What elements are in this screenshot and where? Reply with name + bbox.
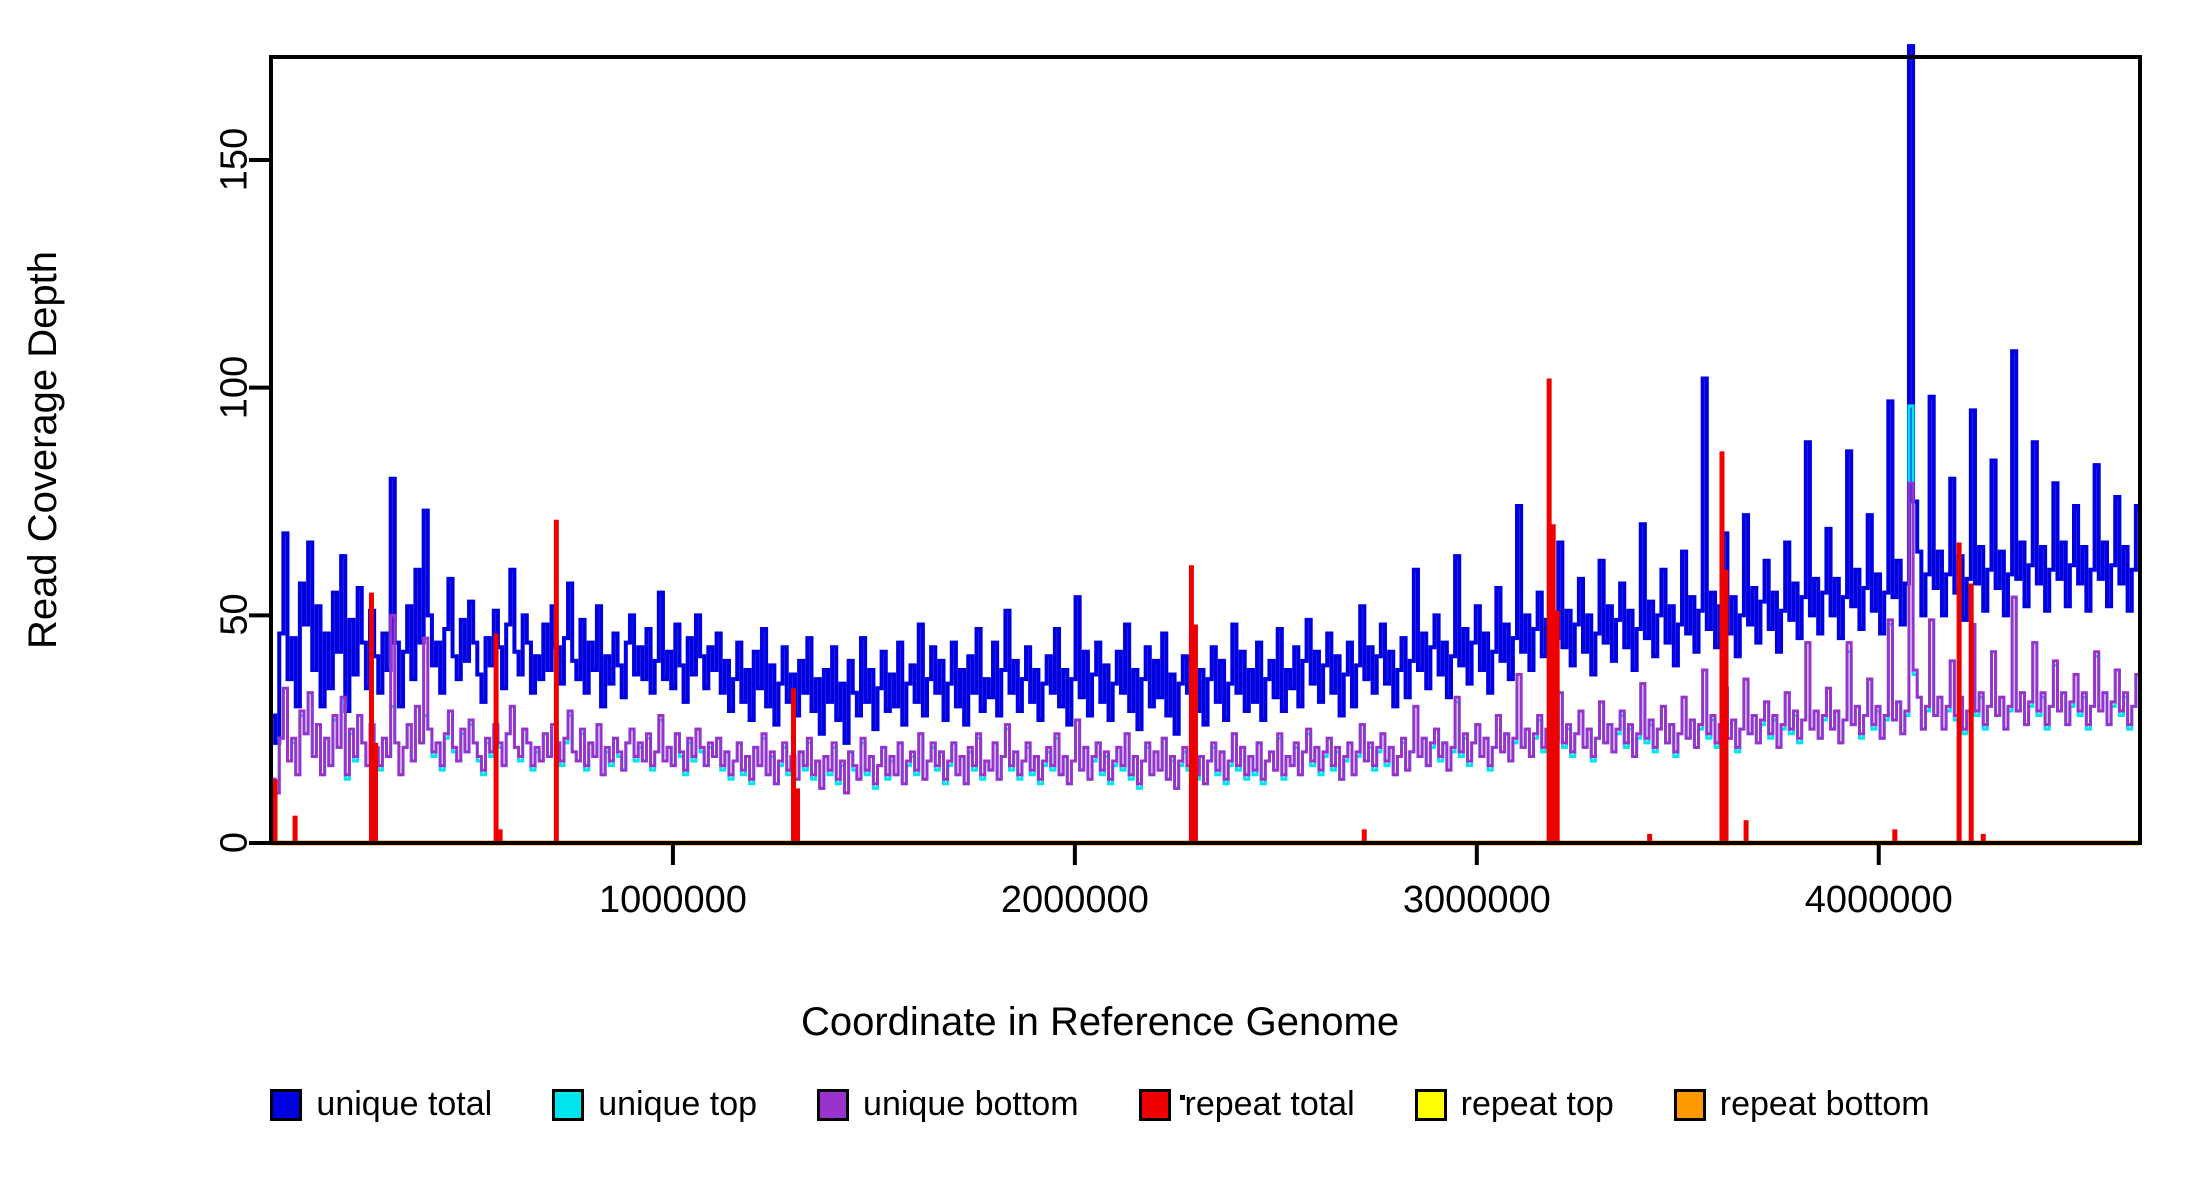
legend-label: repeat top bbox=[1461, 1085, 1614, 1124]
y-tick-label: 0 bbox=[214, 743, 257, 943]
legend-item-unique-bottom: unique bottom bbox=[817, 1085, 1079, 1124]
x-tick-label: 1000000 bbox=[599, 879, 747, 922]
legend-item-repeat-total: repeat total bbox=[1139, 1085, 1355, 1124]
y-tick-label: 100 bbox=[214, 287, 257, 487]
legend-label: unique top bbox=[598, 1085, 757, 1124]
legend-label: repeat bottom bbox=[1720, 1085, 1930, 1124]
legend-item-repeat-bottom: repeat bottom bbox=[1674, 1085, 1930, 1124]
legend-swatch-icon bbox=[1415, 1089, 1447, 1121]
legend-label: unique total bbox=[316, 1085, 492, 1124]
x-tick-label: 3000000 bbox=[1403, 879, 1551, 922]
legend-swatch-icon bbox=[552, 1089, 584, 1121]
legend-swatch-icon bbox=[817, 1089, 849, 1121]
legend-swatch-icon bbox=[270, 1089, 302, 1121]
y-axis-title: Read Coverage Depth bbox=[0, 0, 86, 900]
legend-swatch-icon bbox=[1139, 1089, 1171, 1121]
y-tick-label: 150 bbox=[214, 60, 257, 260]
series-unique-total bbox=[271, 46, 2140, 743]
x-tick-label: 2000000 bbox=[1001, 879, 1149, 922]
coverage-plot-figure: Read Coverage Depth Coordinate in Refere… bbox=[0, 0, 2200, 1200]
y-tick-label: 50 bbox=[214, 515, 257, 715]
legend-label: unique bottom bbox=[863, 1085, 1079, 1124]
legend: unique totalunique topunique bottomrepea… bbox=[0, 1085, 2200, 1124]
x-tick-label: 4000000 bbox=[1805, 879, 1953, 922]
legend-item-unique-total: unique total bbox=[270, 1085, 492, 1124]
legend-item-repeat-top: repeat top bbox=[1415, 1085, 1614, 1124]
legend-swatch-icon bbox=[1674, 1089, 1706, 1121]
legend-label: repeat total bbox=[1185, 1085, 1355, 1124]
legend-item-unique-top: unique top bbox=[552, 1085, 757, 1124]
x-axis-title: Coordinate in Reference Genome bbox=[0, 1000, 2200, 1045]
plot-series-group bbox=[271, 46, 2140, 843]
